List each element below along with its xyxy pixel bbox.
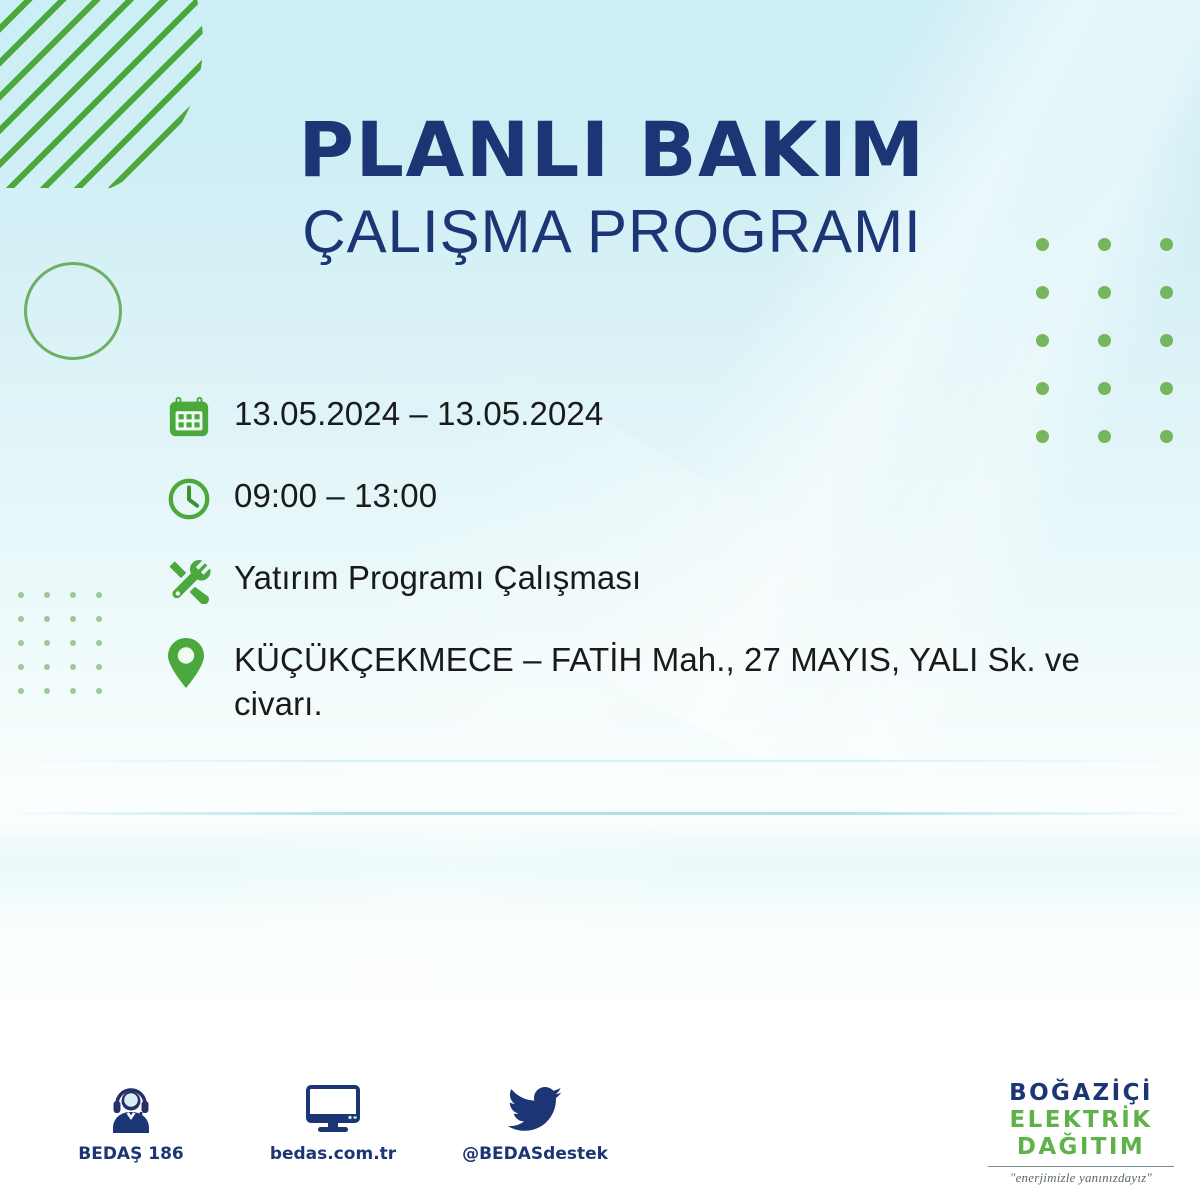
location-pin-icon (160, 632, 234, 694)
poster-heading: PLANLI BAKIM ÇALIŞMA PROGRAMI (0, 112, 1200, 262)
bedas-logo: BOĞAZİÇİ ELEKTRİK DAĞITIM "enerjimizle y… (978, 1080, 1184, 1186)
grid-dot (1160, 286, 1173, 299)
footer-contact-bar: BEDAŞ 186 bedas.com.tr @B (56, 1078, 610, 1164)
dot-grid-left-decoration (18, 592, 122, 712)
circle-outline-decoration (24, 262, 122, 360)
calendar-icon (160, 386, 234, 448)
grid-dot (1098, 286, 1111, 299)
detail-row-time: 09:00 – 13:00 (160, 468, 1170, 530)
background-horizon-band (0, 760, 1200, 762)
detail-row-date: 13.05.2024 – 13.05.2024 (160, 386, 1170, 448)
contact-label-twitter: @BEDASdestek (462, 1144, 608, 1164)
grid-dot (1098, 334, 1111, 347)
logo-line-bogazici: BOĞAZİÇİ (978, 1080, 1184, 1107)
contact-item-website[interactable]: bedas.com.tr (258, 1078, 408, 1164)
grid-dot (96, 664, 102, 670)
support-agent-icon (107, 1078, 155, 1134)
logo-divider (988, 1166, 1174, 1167)
grid-dot (44, 616, 50, 622)
grid-dot (96, 592, 102, 598)
contact-item-call-center[interactable]: BEDAŞ 186 (56, 1078, 206, 1164)
grid-dot (1160, 334, 1173, 347)
grid-dot (70, 664, 76, 670)
grid-dot (44, 664, 50, 670)
twitter-bird-icon (507, 1078, 563, 1134)
detail-row-location: KÜÇÜKÇEKMECE – FATİH Mah., 27 MAYIS, YAL… (160, 632, 1170, 725)
page-subtitle: ÇALIŞMA PROGRAMI (0, 202, 1200, 262)
grid-dot (96, 616, 102, 622)
grid-dot (70, 640, 76, 646)
planned-maintenance-poster: PLANLI BAKIM ÇALIŞMA PROGRAMI (0, 0, 1200, 1200)
grid-dot (18, 688, 24, 694)
detail-value-time: 09:00 – 13:00 (234, 468, 437, 518)
grid-dot (96, 640, 102, 646)
detail-value-location: KÜÇÜKÇEKMECE – FATİH Mah., 27 MAYIS, YAL… (234, 632, 1164, 725)
grid-dot (18, 616, 24, 622)
maintenance-details-list: 13.05.2024 – 13.05.2024 09:00 – 13:00 (160, 386, 1170, 745)
grid-dot (70, 688, 76, 694)
detail-value-work-type: Yatırım Programı Çalışması (234, 550, 641, 600)
grid-dot (44, 640, 50, 646)
page-title: PLANLI BAKIM (0, 112, 1200, 188)
detail-value-date: 13.05.2024 – 13.05.2024 (234, 386, 603, 436)
grid-dot (1036, 334, 1049, 347)
logo-tagline: "enerjimizle yanınızdayız" (978, 1170, 1184, 1186)
grid-dot (96, 688, 102, 694)
logo-line-dagitim: DAĞITIM (978, 1134, 1184, 1161)
contact-label-call-center: BEDAŞ 186 (78, 1144, 184, 1164)
grid-dot (44, 592, 50, 598)
clock-icon (160, 468, 234, 530)
background-horizon-band (0, 812, 1200, 815)
grid-dot (44, 688, 50, 694)
tools-icon (160, 550, 234, 612)
grid-dot (18, 664, 24, 670)
monitor-icon (305, 1078, 361, 1134)
grid-dot (18, 592, 24, 598)
grid-dot (18, 640, 24, 646)
detail-row-work-type: Yatırım Programı Çalışması (160, 550, 1170, 612)
contact-label-website: bedas.com.tr (270, 1144, 396, 1164)
grid-dot (1036, 286, 1049, 299)
grid-dot (70, 616, 76, 622)
grid-dot (70, 592, 76, 598)
contact-item-twitter[interactable]: @BEDASdestek (460, 1078, 610, 1164)
logo-line-elektrik: ELEKTRİK (978, 1107, 1184, 1134)
